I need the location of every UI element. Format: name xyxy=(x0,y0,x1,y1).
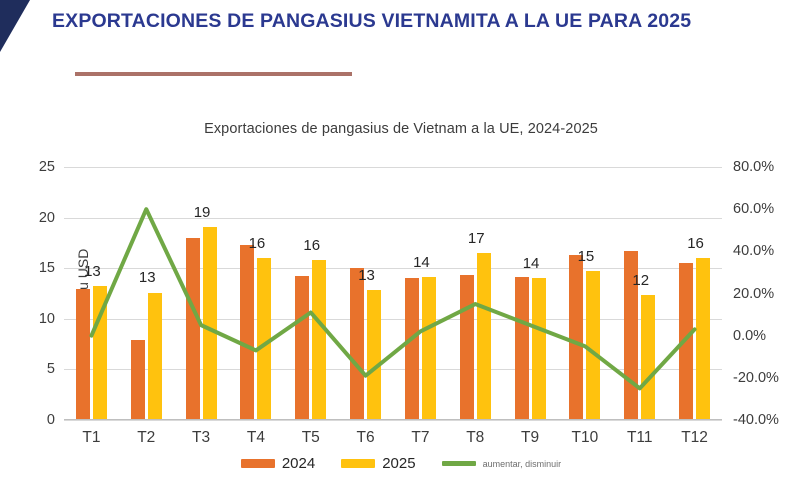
x-axis-tick-label: T9 xyxy=(521,429,539,447)
trend-line-path xyxy=(91,209,694,388)
y-axis-right-tick-label: -40.0% xyxy=(733,412,779,428)
legend-swatch xyxy=(442,461,476,466)
plot-area: triệu USD 0510152025 -40.0%-20.0%0.0%20.… xyxy=(64,167,722,420)
slide-header: EXPORTACIONES DE PANGASIUS VIETNAMITA A … xyxy=(0,0,802,110)
y-axis-right-tick-label: 80.0% xyxy=(733,159,774,175)
chart-container: Exportaciones de pangasius de Vietnam a … xyxy=(0,110,802,485)
x-axis-tick-label: T8 xyxy=(466,429,484,447)
title-divider-rule xyxy=(75,72,352,76)
x-axis-tick-label: T4 xyxy=(247,429,265,447)
y-axis-right-tick-label: 0.0% xyxy=(733,328,766,344)
y-axis-left-tick-label: 10 xyxy=(39,311,55,327)
y-axis-left-tick-label: 15 xyxy=(39,260,55,276)
y-axis-left-tick-label: 25 xyxy=(39,159,55,175)
x-axis-tick-label: T7 xyxy=(411,429,429,447)
y-axis-left-tick-label: 5 xyxy=(47,361,55,377)
slide-title: EXPORTACIONES DE PANGASIUS VIETNAMITA A … xyxy=(52,10,782,33)
legend-item-2024[interactable]: 2024 xyxy=(241,455,315,472)
chart-legend: 20242025aumentar, disminuir xyxy=(0,455,802,472)
legend-label: 2024 xyxy=(282,455,315,472)
gridline xyxy=(64,420,722,421)
legend-item-aumentar[interactable]: aumentar, disminuir xyxy=(442,459,562,469)
x-axis-tick-label: T11 xyxy=(627,429,653,447)
corner-wedge-decoration xyxy=(0,0,34,52)
x-axis-tick-label: T6 xyxy=(357,429,375,447)
y-axis-left-tick-label: 0 xyxy=(47,412,55,428)
legend-label: 2025 xyxy=(382,455,415,472)
trend-line-series xyxy=(64,167,722,420)
x-axis-tick-label: T5 xyxy=(302,429,320,447)
x-axis-line xyxy=(64,419,722,420)
y-axis-left-tick-label: 20 xyxy=(39,210,55,226)
legend-swatch xyxy=(341,459,375,468)
x-axis-tick-label: T2 xyxy=(137,429,155,447)
x-axis-tick-label: T3 xyxy=(192,429,210,447)
y-axis-right-tick-label: 20.0% xyxy=(733,286,774,302)
legend-item-2025[interactable]: 2025 xyxy=(341,455,415,472)
y-axis-right-tick-label: -20.0% xyxy=(733,370,779,386)
chart-title: Exportaciones de pangasius de Vietnam a … xyxy=(0,121,802,137)
x-axis-tick-label: T10 xyxy=(572,429,599,447)
y-axis-right-tick-label: 40.0% xyxy=(733,243,774,259)
legend-label: aumentar, disminuir xyxy=(483,459,562,469)
legend-swatch xyxy=(241,459,275,468)
x-axis-tick-label: T12 xyxy=(681,429,708,447)
x-axis-tick-label: T1 xyxy=(82,429,100,447)
y-axis-right-tick-label: 60.0% xyxy=(733,201,774,217)
